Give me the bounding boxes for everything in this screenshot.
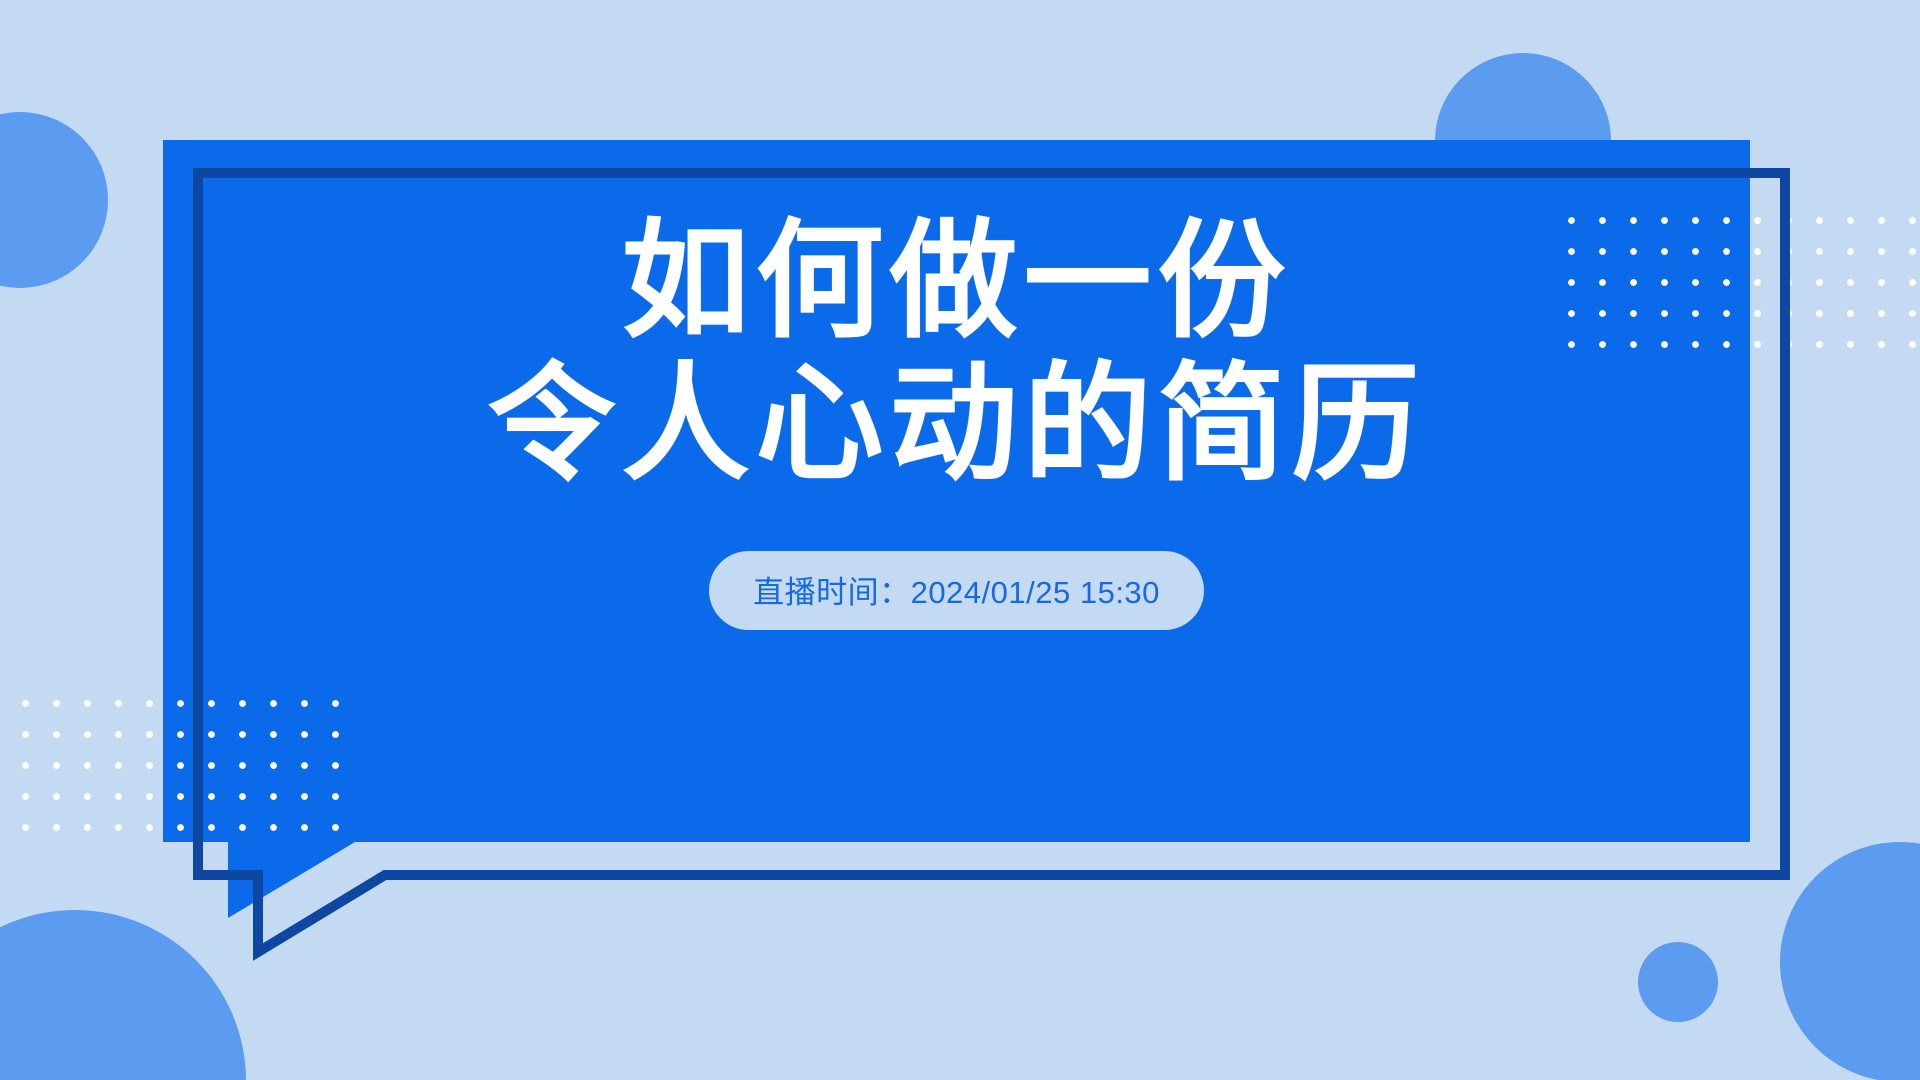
title-line-2: 令人心动的简历 [487, 353, 1425, 496]
live-time-badge: 直播时间：2024/01/25 15:30 [709, 551, 1204, 630]
poster-title: 如何做一份 令人心动的简历 [487, 210, 1425, 497]
poster-content: 如何做一份 令人心动的简历 直播时间：2024/01/25 15:30 [163, 140, 1750, 842]
live-stream-title-poster: 如何做一份 令人心动的简历 直播时间：2024/01/25 15:30 [0, 0, 1920, 1080]
title-line-1: 如何做一份 [487, 210, 1425, 353]
